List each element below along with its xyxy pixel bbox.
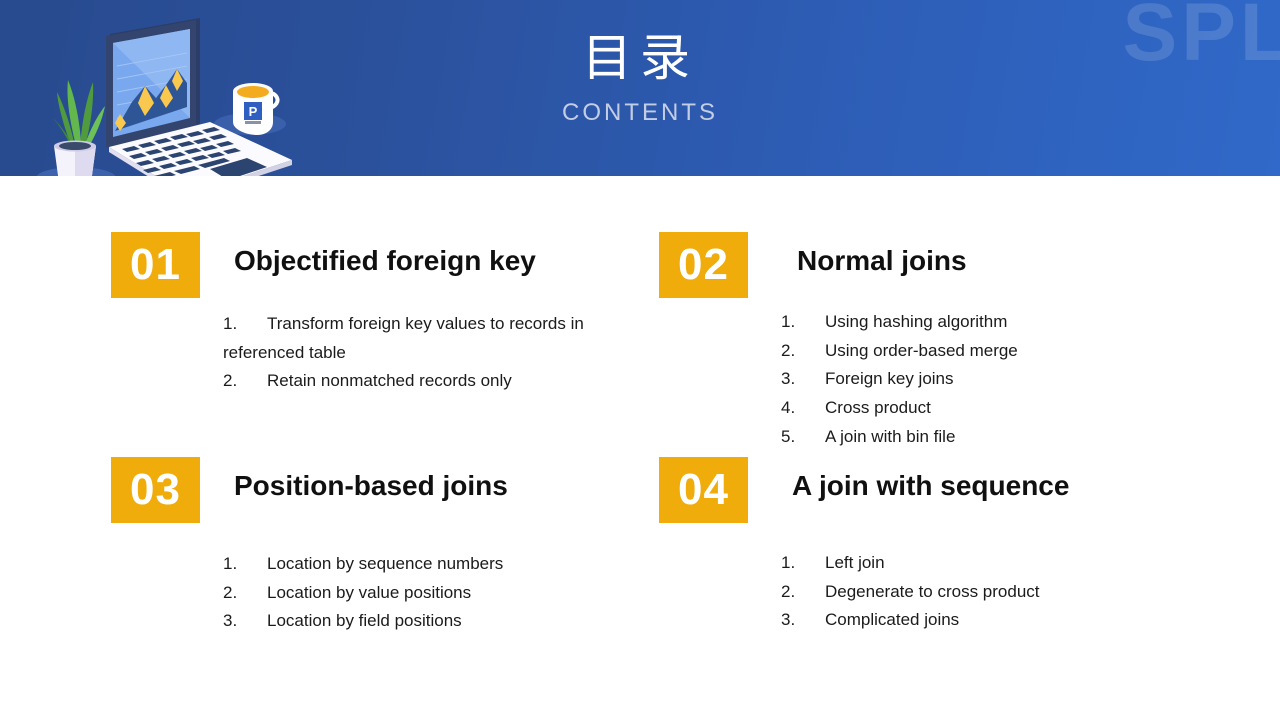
header-banner: SPL (0, 0, 1280, 176)
list-item-text: Foreign key joins (825, 365, 1129, 394)
list-item-text: Location by sequence numbers (267, 550, 641, 579)
list-item-text: Transform foreign key values to records … (223, 314, 584, 362)
list-item[interactable]: 1. Left join (781, 549, 1159, 578)
list-item[interactable]: 3. Complicated joins (781, 606, 1159, 635)
list-item-text: Using hashing algorithm (825, 308, 1129, 337)
section-title: A join with sequence (792, 472, 1069, 500)
list-item-text: A join with bin file (825, 423, 1129, 452)
list-item-number: 3. (223, 607, 267, 636)
toc-section-02[interactable]: 02 Normal joins 1. Using hashing algorit… (659, 232, 1129, 452)
list-item[interactable]: 3. Foreign key joins (781, 365, 1129, 394)
section-item-list: 1. Left join 2. Degenerate to cross prod… (781, 549, 1159, 635)
section-header: 02 Normal joins (659, 232, 1129, 298)
list-item-text: Complicated joins (825, 606, 1159, 635)
list-item-number: 4. (781, 394, 825, 423)
section-title: Normal joins (797, 247, 967, 275)
list-item-number: 5. (781, 423, 825, 452)
list-item-number: 1. (781, 308, 825, 337)
section-title: Objectified foreign key (234, 247, 536, 275)
page-title: 目录 (0, 32, 1280, 85)
list-item[interactable]: 2.Retain nonmatched records only (223, 367, 643, 396)
section-title: Position-based joins (234, 472, 508, 500)
section-item-list: 1.Transform foreign key values to record… (223, 310, 643, 396)
section-number-badge: 01 (111, 232, 200, 298)
list-item[interactable]: 5. A join with bin file (781, 423, 1129, 452)
list-item[interactable]: 4. Cross product (781, 394, 1129, 423)
list-item-text: Left join (825, 549, 1159, 578)
list-item[interactable]: 2. Degenerate to cross product (781, 578, 1159, 607)
list-item[interactable]: 1. Location by sequence numbers (223, 550, 641, 579)
contents-body: 01 Objectified foreign key 1.Transform f… (0, 176, 1280, 720)
list-item[interactable]: 1. Using hashing algorithm (781, 308, 1129, 337)
header-title-block: 目录 CONTENTS (0, 32, 1280, 127)
list-item-number: 1. (781, 549, 825, 578)
section-number-badge: 03 (111, 457, 200, 523)
list-item-number: 3. (781, 606, 825, 635)
list-item[interactable]: 1.Transform foreign key values to record… (223, 310, 643, 367)
list-item-text: Cross product (825, 394, 1129, 423)
list-item-number: 2. (223, 367, 267, 396)
section-item-list: 1. Using hashing algorithm 2. Using orde… (781, 308, 1129, 452)
list-item-text: Using order-based merge (825, 337, 1129, 366)
list-item-number: 2. (223, 579, 267, 608)
list-item-number: 3. (781, 365, 825, 394)
section-header: 01 Objectified foreign key (111, 232, 641, 298)
toc-section-03[interactable]: 03 Position-based joins 1. Location by s… (111, 457, 641, 636)
list-item[interactable]: 3. Location by field positions (223, 607, 641, 636)
list-item-text: Location by field positions (267, 607, 641, 636)
section-number-badge: 02 (659, 232, 748, 298)
toc-section-01[interactable]: 01 Objectified foreign key 1.Transform f… (111, 232, 641, 396)
list-item-number: 2. (781, 337, 825, 366)
section-item-list: 1. Location by sequence numbers 2. Locat… (223, 550, 641, 636)
list-item-number: 1. (223, 550, 267, 579)
list-item-number: 2. (781, 578, 825, 607)
list-item-text: Retain nonmatched records only (267, 371, 512, 390)
page-subtitle: CONTENTS (0, 99, 1280, 127)
section-header: 04 A join with sequence (659, 457, 1159, 523)
list-item-text: Degenerate to cross product (825, 578, 1159, 607)
toc-section-04[interactable]: 04 A join with sequence 1. Left join 2. … (659, 457, 1159, 635)
list-item-text: Location by value positions (267, 579, 641, 608)
list-item-number: 1. (223, 310, 267, 339)
list-item[interactable]: 2. Using order-based merge (781, 337, 1129, 366)
list-item[interactable]: 2. Location by value positions (223, 579, 641, 608)
section-number-badge: 04 (659, 457, 748, 523)
section-header: 03 Position-based joins (111, 457, 641, 523)
